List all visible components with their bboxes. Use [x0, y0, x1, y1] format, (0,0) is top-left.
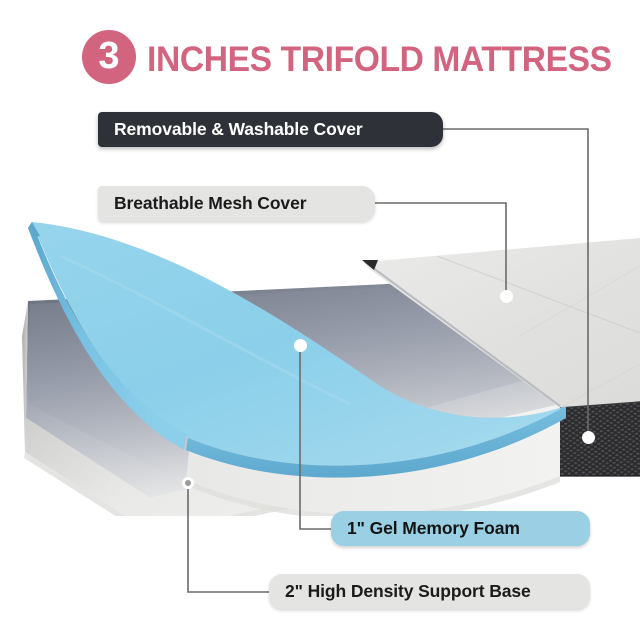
callout-label-gel-memory-foam[interactable]: 1" Gel Memory Foam: [331, 511, 590, 546]
marker-gel-memory-foam[interactable]: [294, 339, 307, 352]
step-badge: 3: [82, 30, 136, 84]
product-infographic: 3 INCHES TRIFOLD MATTRESS: [0, 0, 640, 640]
callout-label-text: Removable & Washable Cover: [98, 119, 379, 140]
marker-removable-cover[interactable]: [582, 431, 595, 444]
callout-label-support-base[interactable]: 2" High Density Support Base: [269, 574, 590, 609]
mattress-illustration: [0, 86, 640, 516]
callout-label-removable-cover[interactable]: Removable & Washable Cover: [98, 112, 443, 147]
callout-label-text: 2" High Density Support Base: [269, 581, 547, 602]
callout-label-text: Breathable Mesh Cover: [98, 193, 322, 214]
callout-label-text: 1" Gel Memory Foam: [331, 518, 536, 539]
mattress-svg: [0, 86, 640, 516]
page-title: INCHES TRIFOLD MATTRESS: [147, 38, 608, 82]
badge-number: 3: [98, 37, 119, 75]
marker-breathable-mesh[interactable]: [500, 290, 513, 303]
page-header: 3 INCHES TRIFOLD MATTRESS: [0, 14, 640, 76]
callout-label-breathable-mesh[interactable]: Breathable Mesh Cover: [98, 186, 375, 221]
mesh-side-panel: [560, 402, 640, 476]
marker-support-base[interactable]: [182, 477, 194, 489]
